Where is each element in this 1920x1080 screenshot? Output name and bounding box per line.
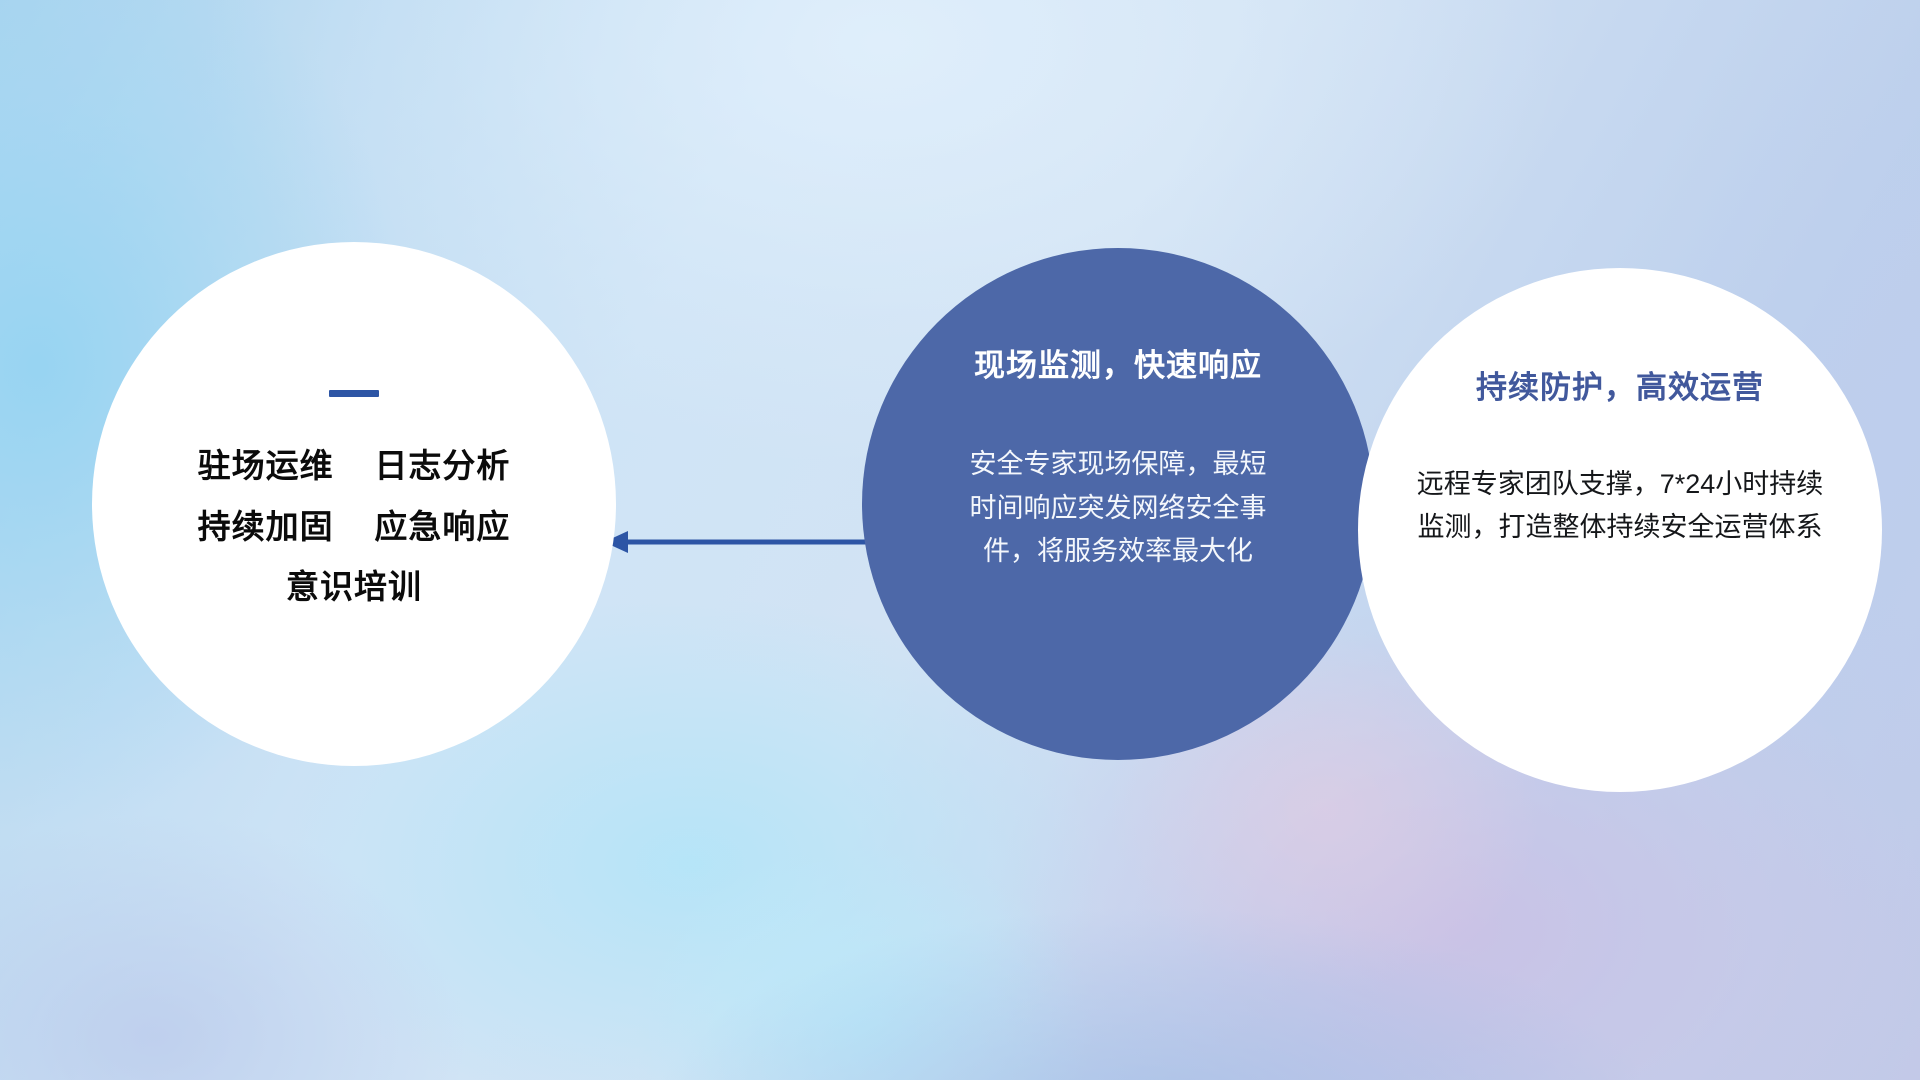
arrow-icon (600, 520, 900, 564)
continuous-protection-circle[interactable]: 持续防护，高效运营 远程专家团队支撑，7*24小时持续监测，打造整体持续安全运营… (1358, 268, 1882, 792)
onsite-monitoring-content: 现场监测，快速响应 安全专家现场保障，最短时间响应突发网络安全事件，将服务效率最… (862, 340, 1374, 574)
service-capability-list: 驻场运维 日志分析 持续加固 应急响应 意识培训 (198, 449, 511, 605)
leftward-flow-arrow (600, 520, 900, 564)
service-capability-line: 驻场运维 日志分析 (198, 449, 511, 484)
onsite-monitoring-circle[interactable]: 现场监测，快速响应 安全专家现场保障，最短时间响应突发网络安全事件，将服务效率最… (862, 248, 1374, 760)
onsite-monitoring-title: 现场监测，快速响应 (974, 340, 1262, 385)
continuous-protection-content: 持续防护，高效运营 远程专家团队支撑，7*24小时持续监测，打造整体持续安全运营… (1358, 362, 1882, 549)
service-capabilities-content: 驻场运维 日志分析 持续加固 应急响应 意识培训 (92, 390, 616, 605)
onsite-monitoring-body: 安全专家现场保障，最短时间响应突发网络安全事件，将服务效率最大化 (968, 443, 1268, 574)
continuous-protection-title: 持续防护，高效运营 (1476, 362, 1764, 407)
continuous-protection-body: 远程专家团队支撑，7*24小时持续监测，打造整体持续安全运营体系 (1410, 463, 1830, 549)
service-capabilities-circle[interactable]: 驻场运维 日志分析 持续加固 应急响应 意识培训 (92, 242, 616, 766)
accent-dash-icon (329, 390, 379, 397)
service-capability-line: 意识培训 (286, 570, 422, 605)
service-capability-line: 持续加固 应急响应 (198, 510, 511, 545)
slide-canvas: 驻场运维 日志分析 持续加固 应急响应 意识培训 现场监测，快速响应 安全专家现… (0, 0, 1920, 1080)
